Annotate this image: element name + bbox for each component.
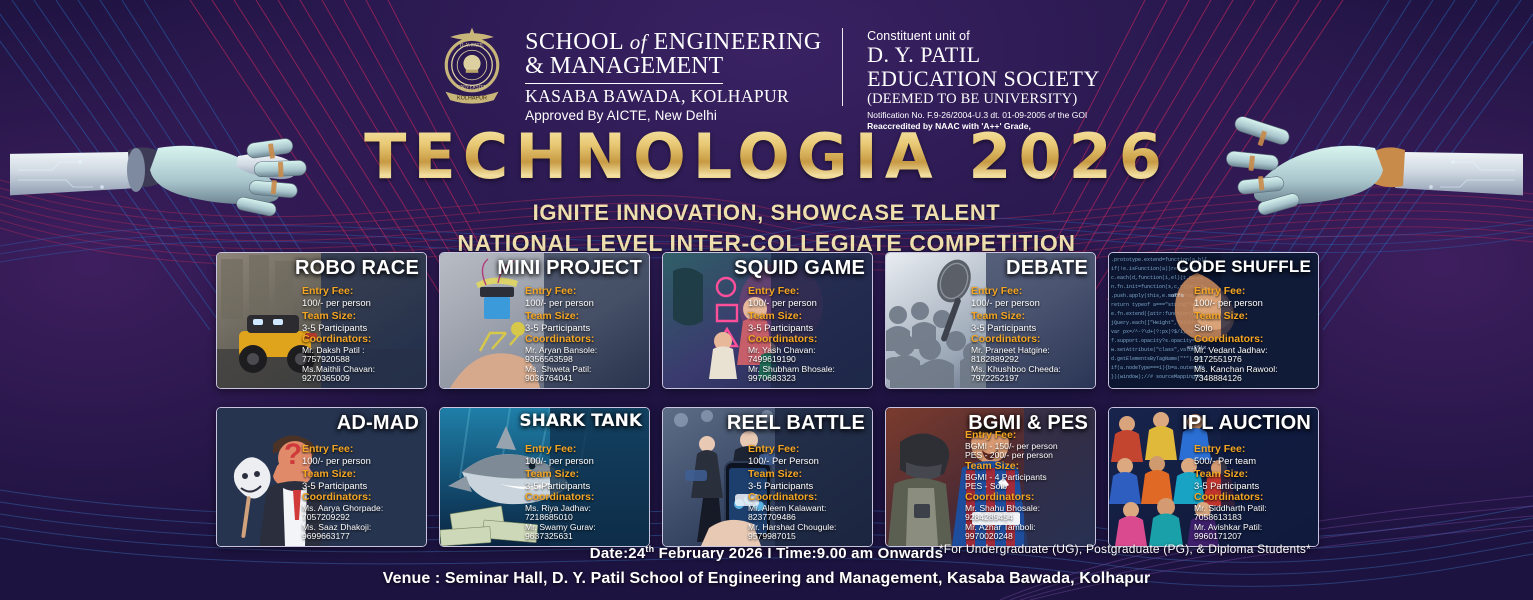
entry-fee-value: 100/- per person — [1194, 298, 1312, 309]
event-card-code-shuffle[interactable]: .prototype.extend=function(a,b){ if(!e.i… — [1108, 252, 1319, 389]
svg-text:D. Y. PATIL: D. Y. PATIL — [460, 43, 484, 48]
event-title: AD-MAD — [337, 413, 419, 433]
coordinator-phone: 7348884126 — [1194, 374, 1312, 384]
svg-text:UNIVERSITY: UNIVERSITY — [457, 85, 487, 90]
svg-text:if(a.nodeType===1){b=a.outerHT: if(a.nodeType===1){b=a.outerHTM — [1111, 365, 1204, 371]
entry-fee-value: 100/- per person — [971, 298, 1089, 309]
event-title-block: TECHNOLOGIA 2026 IGNITE INNOVATION, SHOW… — [0, 126, 1533, 257]
eligibility-note: *For Undergraduate (UG), Postgraduate (P… — [939, 542, 1311, 556]
events-row-1: ROBO RACE Entry Fee: 100/- per person Te… — [216, 252, 1321, 389]
event-details: Entry Fee: 100/- per person Team Size: 3… — [302, 444, 420, 542]
tagline-primary: IGNITE INNOVATION, SHOWCASE TALENT — [0, 200, 1533, 226]
event-title: SHARK TANK — [519, 413, 642, 430]
event-title: SQUID GAME — [734, 258, 865, 278]
entry-fee-value: 100/- per person — [525, 456, 643, 467]
school-line-1: SCHOOL of ENGINEERING — [525, 30, 822, 54]
events-grid: ROBO RACE Entry Fee: 100/- per person Te… — [216, 252, 1321, 547]
coordinator-phone: 7972252197 — [971, 374, 1089, 384]
event-details: Entry Fee: BGMI - 150/- per person PES -… — [965, 430, 1089, 542]
constituent-unit-label: Constituent unit of — [867, 29, 1100, 43]
event-details: Entry Fee: 100/- per person Team Size: S… — [1194, 286, 1312, 384]
school-word-of: of — [630, 30, 647, 54]
poster-root: D. Y. PATIL UNIVERSITY KOLHAPUR SCHOOL o… — [0, 0, 1533, 600]
school-word-amp: & — [525, 53, 544, 79]
university-name-line-1: D. Y. PATIL — [867, 43, 1100, 67]
date-ordinal-suffix: th — [645, 544, 654, 554]
date-prefix: Date:24 — [590, 545, 646, 562]
entry-fee-value: 500/- Per team — [1194, 456, 1312, 467]
entry-fee-value: 100/- per person — [525, 298, 643, 309]
event-details: Entry Fee: 100/- per person Team Size: 3… — [748, 286, 866, 384]
institution-header: D. Y. PATIL UNIVERSITY KOLHAPUR SCHOOL o… — [0, 26, 1533, 114]
school-word-school: SCHOOL — [525, 29, 623, 55]
event-card-shark-tank[interactable]: SHARK TANK Entry Fee: 100/- per person T… — [439, 407, 650, 547]
coordinators-label: Coordinators: — [1194, 492, 1312, 504]
event-title: MINI PROJECT — [497, 258, 642, 278]
coordinator-phone: 9960171207 — [1194, 532, 1312, 542]
event-card-squid-game[interactable]: SQUID GAME Entry Fee: 100/- per person T… — [662, 252, 873, 389]
event-card-mini-project[interactable]: MINI PROJECT Entry Fee: 100/- per person… — [439, 252, 650, 389]
coordinators-label: Coordinators: — [525, 492, 643, 504]
event-details: Entry Fee: 100/- Per Person Team Size: 3… — [748, 444, 866, 542]
coordinators-label: Coordinators: — [965, 492, 1089, 504]
coordinators-label: Coordinators: — [302, 492, 420, 504]
coordinators-label: Coordinators: — [748, 334, 866, 346]
university-deemed-line: (DEEMED TO BE UNIVERSITY) — [867, 91, 1100, 107]
svg-text:offs: offs — [1171, 293, 1184, 299]
dy-patil-university-crest-icon: D. Y. PATIL UNIVERSITY KOLHAPUR — [433, 26, 511, 108]
svg-text:d.getElementsByTagName("*"),re: d.getElementsByTagName("*"),ret — [1111, 356, 1204, 362]
entry-fee-value: 100/- per person — [302, 456, 420, 467]
svg-text:?: ? — [284, 438, 302, 471]
entry-fee-value: 100/- per person — [748, 298, 866, 309]
header-divider — [842, 28, 843, 106]
event-details: Entry Fee: 100/- per person Team Size: 3… — [971, 286, 1089, 384]
coordinator-phone: 9970020248 — [965, 532, 1089, 542]
coordinator-phone: 9970683323 — [748, 374, 866, 384]
university-name-block: Constituent unit of D. Y. PATIL EDUCATIO… — [867, 26, 1100, 131]
entry-fee-value: 100/- Per Person — [748, 456, 866, 467]
coordinator-phone: 9036764041 — [525, 374, 643, 384]
coordinators-label: Coordinators: — [302, 334, 420, 346]
event-card-debate[interactable]: DEBATE Entry Fee: 100/- per person Team … — [885, 252, 1096, 389]
event-card-reel-battle[interactable]: REEL BATTLE Entry Fee: 100/- Per Person … — [662, 407, 873, 547]
coordinator-phone: 9699663177 — [302, 532, 420, 542]
venue-line: Venue : Seminar Hall, D. Y. Patil School… — [0, 570, 1533, 588]
school-line-2: & MANAGEMENT — [525, 54, 723, 83]
event-details: Entry Fee: 100/- per person Team Size: 3… — [525, 286, 643, 384]
notification-number: Notification No. F.9-26/2004-U.3 dt. 01-… — [867, 110, 1100, 121]
entry-fee-label: Entry Fee: — [965, 430, 1089, 442]
coordinator-phone: 9579987015 — [748, 532, 866, 542]
school-word-management: MANAGEMENT — [550, 53, 723, 79]
event-card-ipl-auction[interactable]: IPL AUCTION Entry Fee: 500/- Per team Te… — [1108, 407, 1319, 547]
university-name-line-2: EDUCATION SOCIETY — [867, 67, 1100, 91]
coordinator-phone: 9270365009 — [302, 374, 420, 384]
coordinators-label: Coordinators: — [525, 334, 643, 346]
coordinator-phone: 9637325631 — [525, 532, 643, 542]
team-size-label: Team Size: — [965, 461, 1089, 473]
event-title: DEBATE — [1006, 258, 1088, 278]
event-details: Entry Fee: 100/- per person Team Size: 3… — [302, 286, 420, 384]
event-details: Entry Fee: 500/- Per team Team Size: 3-5… — [1194, 444, 1312, 542]
event-card-robo-race[interactable]: ROBO RACE Entry Fee: 100/- per person Te… — [216, 252, 427, 389]
event-title: IPL AUCTION — [1182, 413, 1311, 433]
coordinators-label: Coordinators: — [971, 334, 1089, 346]
events-row-2: ? AD-MAD Entry Fee: 100/- per person Tea… — [216, 407, 1321, 547]
school-name-block: SCHOOL of ENGINEERING & MANAGEMENT KASAB… — [525, 26, 822, 123]
date-time-rest: February 2026 I Time:9.00 am Onwards — [654, 545, 943, 562]
school-word-engineering: ENGINEERING — [654, 29, 822, 55]
svg-text:})(window);//# sourceMappingUR: })(window);//# sourceMappingURL — [1111, 374, 1204, 380]
coordinators-label: Coordinators: — [748, 492, 866, 504]
event-card-ad-mad[interactable]: ? AD-MAD Entry Fee: 100/- per person Tea… — [216, 407, 427, 547]
school-campus-line: KASABA BAWADA, KOLHAPUR — [525, 87, 822, 106]
event-title: CODE SHUFFLE — [1176, 258, 1311, 275]
svg-text:f.support.opacity?s.opacity=n:: f.support.opacity?s.opacity=n: — [1111, 338, 1201, 344]
page-title: TECHNOLOGIA 2026 — [0, 126, 1533, 188]
crest-caption: KOLHAPUR — [457, 95, 487, 101]
coordinators-label: Coordinators: — [1194, 334, 1312, 346]
entry-fee-value: 100/- per person — [302, 298, 420, 309]
event-card-bgmi-pes[interactable]: BGMI & PES Entry Fee: BGMI - 150/- per p… — [885, 407, 1096, 547]
event-title: REEL BATTLE — [727, 413, 865, 433]
event-details: Entry Fee: 100/- per person Team Size: 3… — [525, 444, 643, 542]
event-title: ROBO RACE — [295, 258, 419, 278]
